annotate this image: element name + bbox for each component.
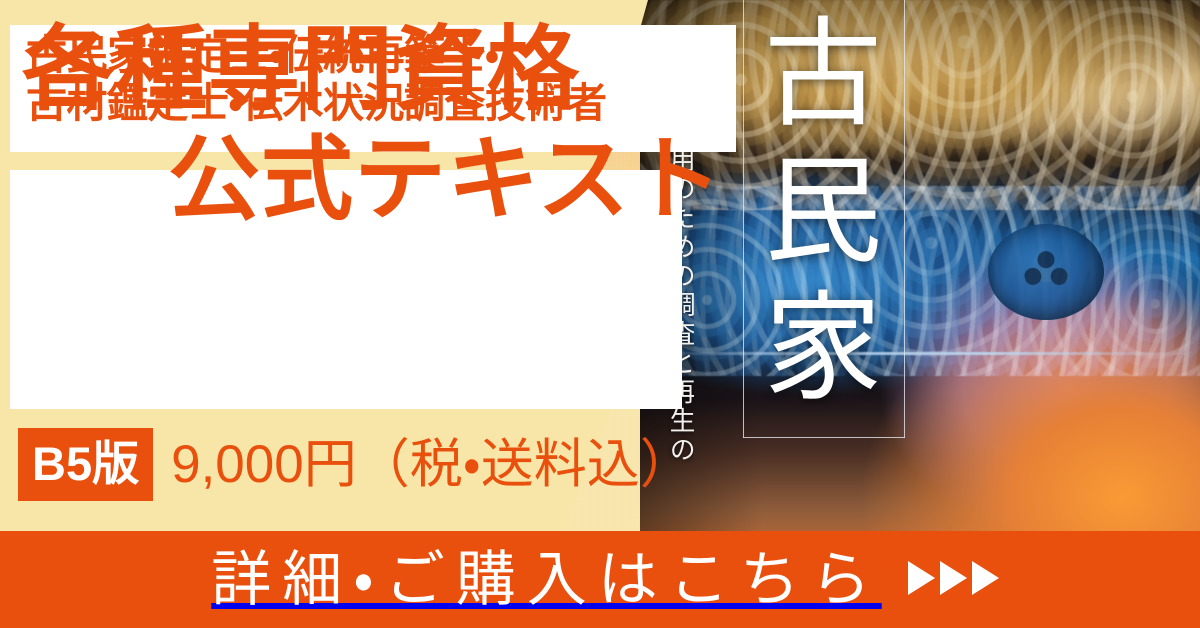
cover-frame-rule-left: [743, 0, 744, 438]
price-row: B5版 9,000円（税・送料込）: [18, 428, 693, 501]
right-arrow-icon-3: [972, 561, 999, 595]
cta-button[interactable]: 詳細・ご購入はこちら: [0, 531, 1200, 628]
headline-line-1: 各種専門資格: [22, 24, 580, 116]
format-badge: B5版: [18, 428, 153, 501]
headline-line-2: 公式テキスト: [168, 134, 723, 226]
cover-title: 古 民 家: [758, 8, 890, 419]
cover-frame-rule-right: [904, 0, 905, 438]
cover-frame-rule-bottom: [743, 437, 905, 438]
cover-title-char-2: 民: [758, 145, 890, 282]
cover-title-char-1: 古: [758, 8, 890, 145]
triple-right-arrow-icon: [908, 561, 999, 595]
right-arrow-icon-2: [940, 561, 967, 595]
promo-banner: 古 民 家 伝統構法 古民家活用のための調査と再生の 古民家鑑定士・伝統再築士・…: [0, 0, 1200, 628]
price-amount: 9,000円（税・送料込）: [171, 438, 693, 491]
cover-title-char-3: 家: [758, 282, 890, 419]
right-arrow-icon-1: [908, 561, 935, 595]
cta-label: 詳細・ご購入はこちら: [201, 550, 881, 610]
